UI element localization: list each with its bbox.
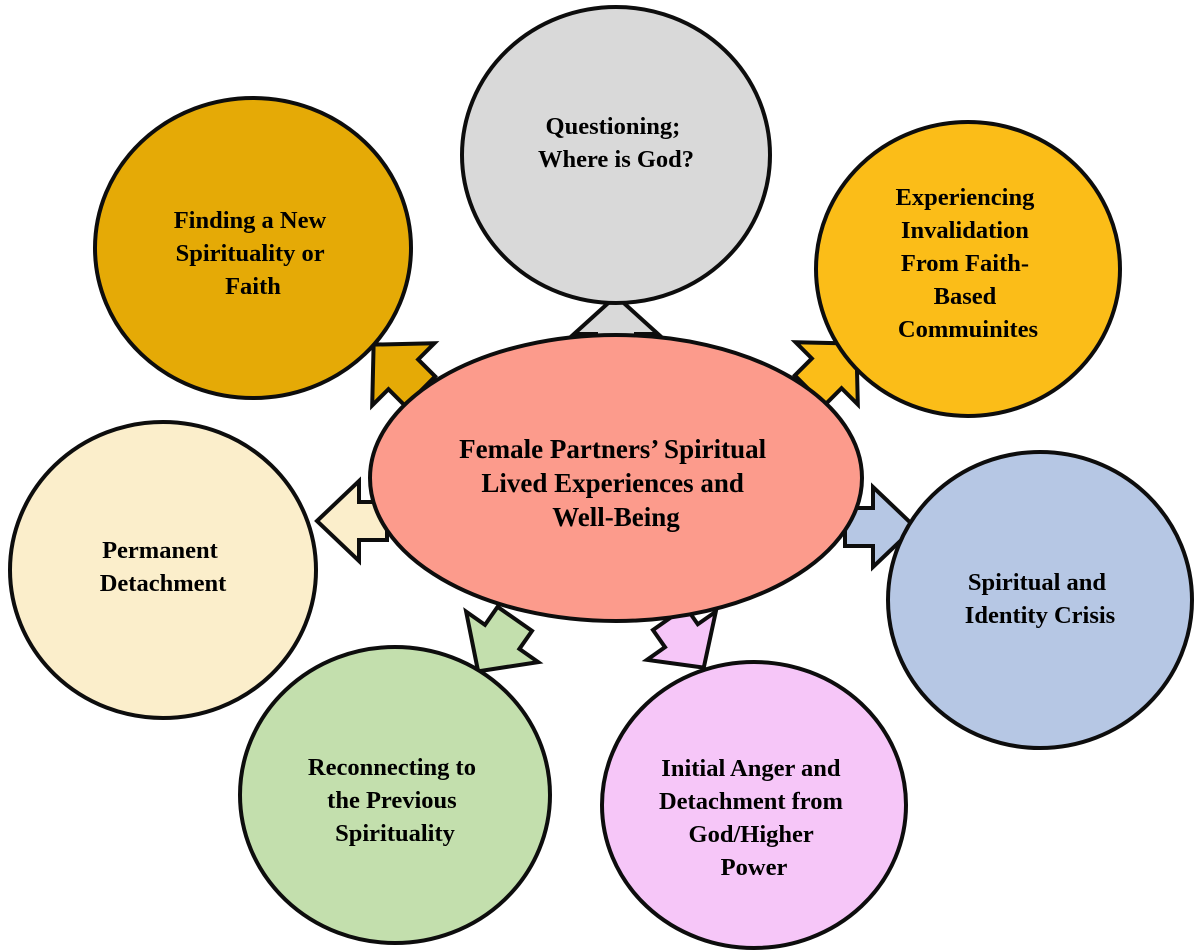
node-questioning[interactable]: Questioning; Where is God? [462, 7, 770, 303]
node-new-spirituality[interactable]: Finding a New Spirituality or Faith [95, 98, 411, 398]
node-identity-crisis[interactable]: Spiritual and Identity Crisis [888, 452, 1192, 748]
node-reconnecting[interactable]: Reconnecting to the Previous Spiritualit… [240, 647, 550, 943]
node-initial-anger[interactable]: Initial Anger and Detachment from God/Hi… [602, 662, 906, 948]
concept-diagram: Questioning; Where is God? Experiencing … [0, 0, 1200, 950]
diagram-canvas: Questioning; Where is God? Experiencing … [0, 0, 1200, 950]
node-invalidation[interactable]: Experiencing Invalidation From Faith- Ba… [816, 122, 1120, 416]
center-theme-node[interactable]: Female Partners’ Spiritual Lived Experie… [370, 335, 862, 621]
node-permanent-detachment[interactable]: Permanent Detachment [10, 422, 316, 718]
node-invalidation-label: Experiencing Invalidation From Faith- Ba… [896, 184, 1041, 343]
